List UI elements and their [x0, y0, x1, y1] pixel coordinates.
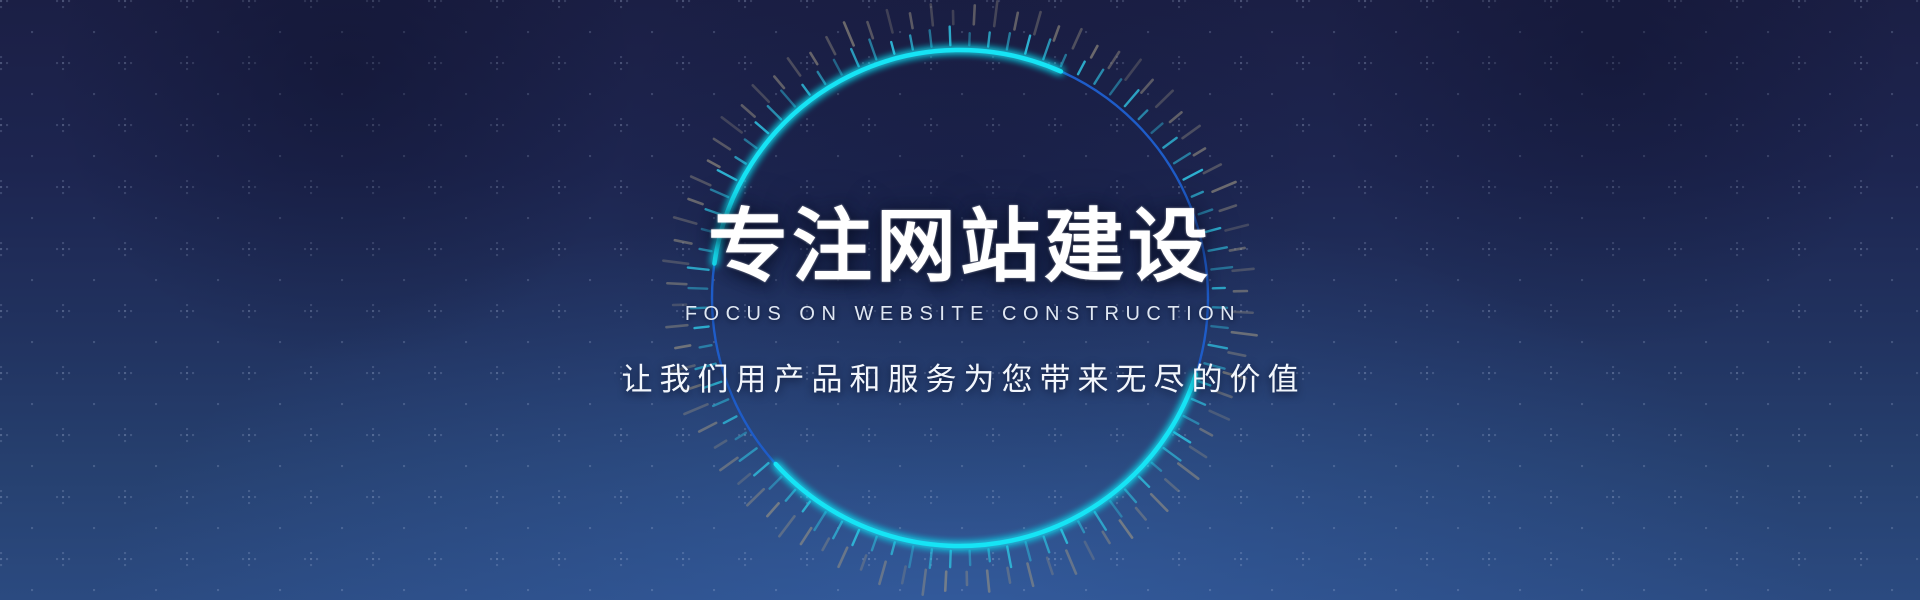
- page-title: 专注网站建设: [708, 207, 1212, 287]
- page-subtitle: FOCUS ON WEBSITE CONSTRUCTION: [679, 303, 1241, 326]
- page-tagline: 让我们用产品和服务为您带来无尽的价值: [615, 354, 1306, 399]
- hero-content: 专注网站建设 FOCUS ON WEBSITE CONSTRUCTION 让我们…: [0, 0, 1920, 600]
- hero-banner: 专注网站建设 FOCUS ON WEBSITE CONSTRUCTION 让我们…: [0, 0, 1920, 600]
